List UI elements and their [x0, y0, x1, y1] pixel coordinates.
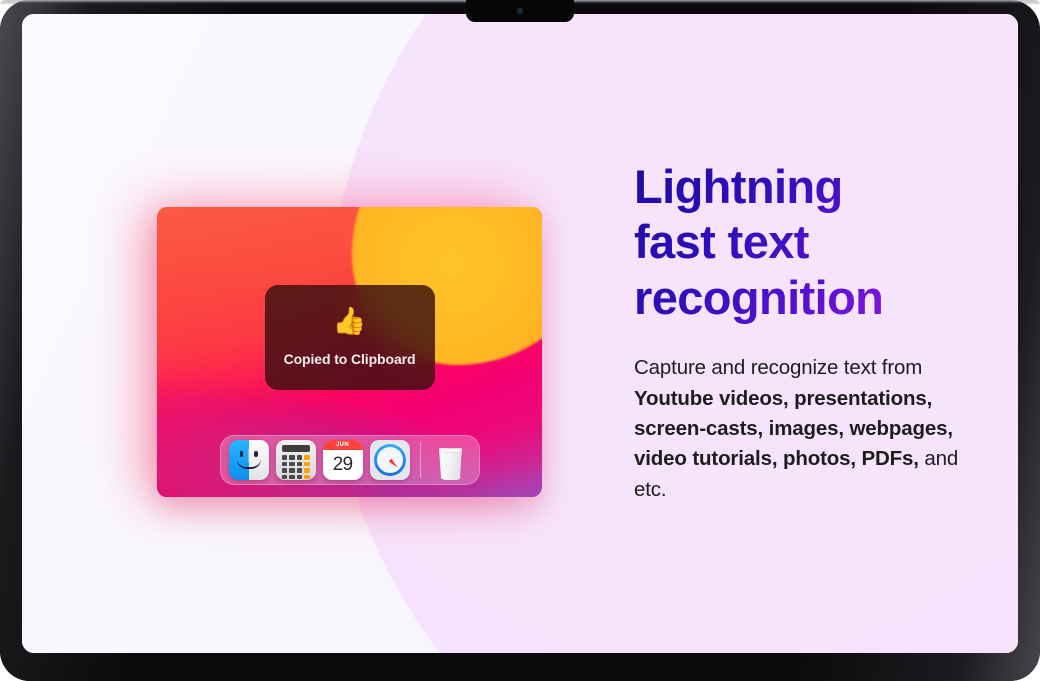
calculator-icon-keys	[280, 455, 312, 479]
calendar-icon-month: JUN	[323, 440, 363, 450]
camera-icon	[517, 8, 523, 14]
trash-icon-body	[438, 448, 464, 480]
laptop-frame: 👍 Copied to Clipboard	[0, 0, 1040, 681]
trash-icon-rim	[437, 448, 465, 453]
dock-item-calculator[interactable]	[276, 440, 316, 480]
dock-item-calendar[interactable]: JUN 29	[323, 440, 363, 480]
calculator-icon-display	[282, 445, 310, 452]
description-emphasis: Youtube videos, presentations, screen-ca…	[634, 387, 953, 471]
finder-icon-eye-right	[254, 451, 258, 457]
dock-item-trash[interactable]	[431, 440, 471, 480]
mac-desktop-window: 👍 Copied to Clipboard	[157, 207, 542, 497]
finder-icon-eye-left	[240, 451, 244, 457]
dock-item-safari[interactable]	[370, 440, 410, 480]
toast-label: Copied to Clipboard	[284, 351, 416, 367]
macos-dock: JUN 29	[220, 435, 480, 485]
laptop-notch	[466, 0, 574, 22]
dock-item-finder[interactable]	[229, 440, 269, 480]
marketing-copy-column: Lightning fast text recognition Capture …	[634, 159, 974, 505]
description-prefix: Capture and recognize text from	[634, 356, 922, 379]
safari-icon-needle	[380, 451, 398, 469]
laptop-screen: 👍 Copied to Clipboard	[22, 14, 1018, 653]
dock-divider	[420, 442, 421, 478]
copied-to-clipboard-toast: 👍 Copied to Clipboard	[265, 285, 435, 390]
page-title: Lightning fast text recognition	[634, 159, 974, 325]
thumbs-up-emoji: 👍	[333, 308, 367, 335]
safari-icon-dial	[374, 444, 406, 476]
page-description: Capture and recognize text from Youtube …	[634, 353, 974, 505]
mac-window-mockup: 👍 Copied to Clipboard	[135, 193, 528, 508]
calendar-icon-day: 29	[323, 450, 363, 480]
